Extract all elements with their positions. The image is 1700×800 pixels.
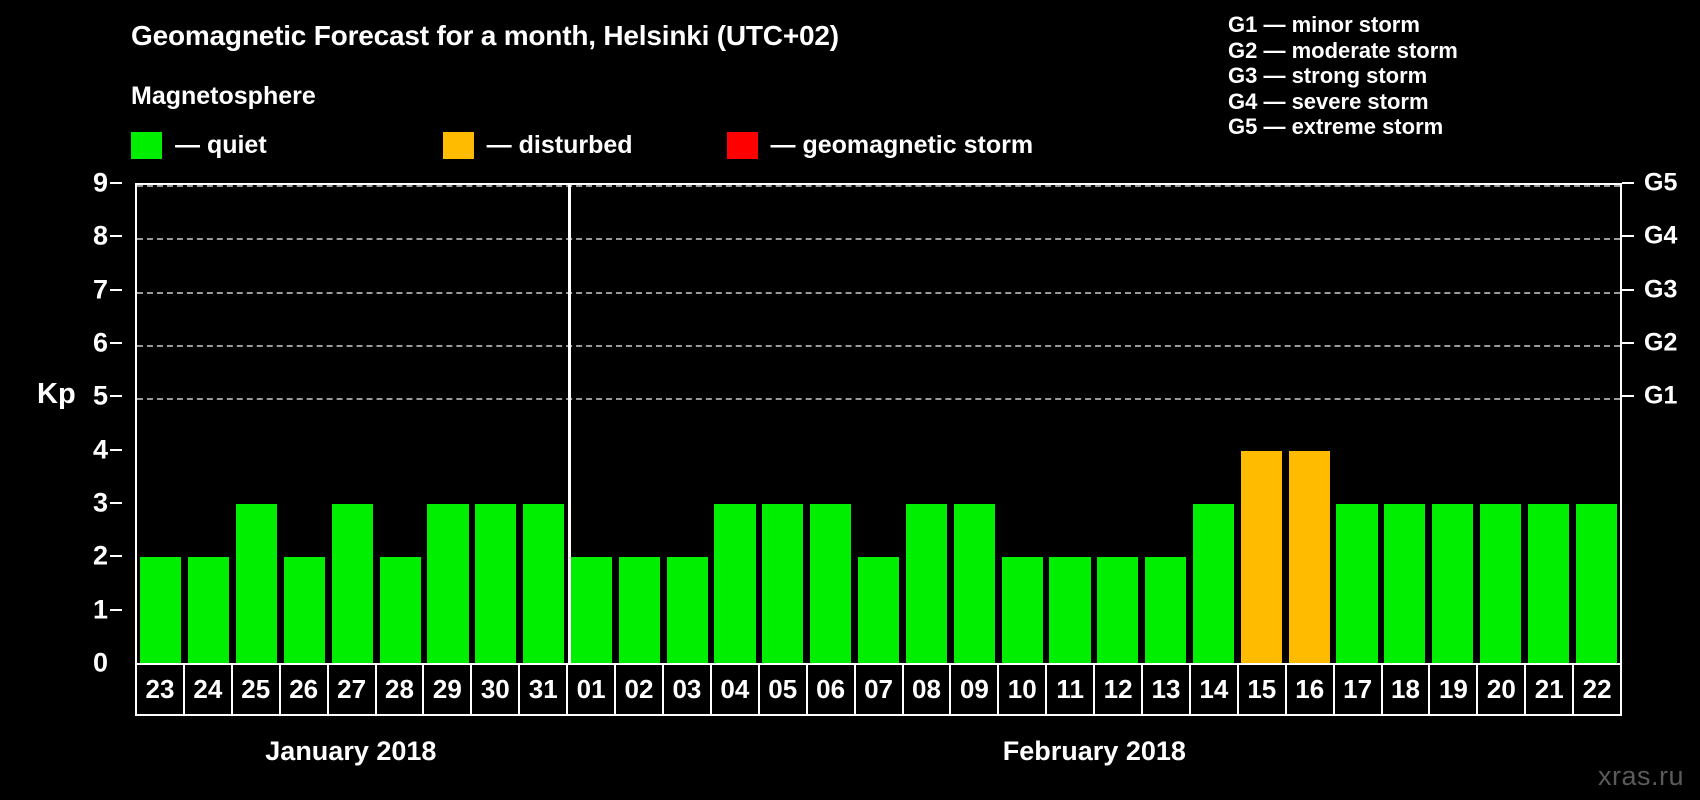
- g-tick-mark-g5: [1622, 182, 1634, 184]
- bar-slot[interactable]: [328, 185, 376, 663]
- bar-day-13[interactable]: [1145, 557, 1186, 663]
- legend-swatch-disturbed: [443, 132, 474, 159]
- y-tick-label-3: 3: [93, 488, 108, 519]
- y-tick-mark-3: [110, 502, 122, 504]
- month-caption-february: February 2018: [1003, 736, 1186, 767]
- bar-day-05[interactable]: [762, 504, 803, 663]
- day-label-14[interactable]: 14: [1191, 665, 1239, 714]
- bar-day-21[interactable]: [1528, 504, 1569, 663]
- day-label-20[interactable]: 20: [1478, 665, 1526, 714]
- day-label-28[interactable]: 28: [377, 665, 425, 714]
- magnetosphere-legend: — quiet— disturbed— geomagnetic storm: [131, 128, 1033, 162]
- bar-day-30[interactable]: [475, 504, 516, 663]
- g-tick-mark-g1: [1622, 395, 1634, 397]
- g-tick-label-g3: G3: [1644, 275, 1677, 304]
- day-label-29[interactable]: 29: [424, 665, 472, 714]
- bar-day-22[interactable]: [1576, 504, 1617, 663]
- day-label-11[interactable]: 11: [1047, 665, 1095, 714]
- bars-layer: [137, 185, 1620, 663]
- y-tick-mark-8: [110, 235, 122, 237]
- legend-label-geomagnetic-storm: — geomagnetic storm: [771, 131, 1034, 160]
- bar-slot[interactable]: [1477, 185, 1525, 663]
- y-tick-mark-1: [110, 609, 122, 611]
- bar-slot[interactable]: [233, 185, 281, 663]
- bar-day-11[interactable]: [1049, 557, 1090, 663]
- g-tick-mark-g4: [1622, 235, 1634, 237]
- bar-slot[interactable]: [281, 185, 329, 663]
- legend-label-disturbed: — disturbed: [487, 131, 633, 160]
- geomagnetic-forecast-chart: Geomagnetic Forecast for a month, Helsin…: [0, 0, 1700, 800]
- bar-slot[interactable]: [759, 185, 807, 663]
- bar-slot[interactable]: [1142, 185, 1190, 663]
- storm-scale-row-g3: G3 — strong storm: [1228, 63, 1458, 89]
- bar-slot[interactable]: [376, 185, 424, 663]
- watermark: xras.ru: [1598, 761, 1684, 792]
- bar-day-09[interactable]: [954, 504, 995, 663]
- legend-swatch-geomagnetic-storm: [727, 132, 758, 159]
- bar-day-04[interactable]: [714, 504, 755, 663]
- day-label-10[interactable]: 10: [999, 665, 1047, 714]
- day-label-30[interactable]: 30: [472, 665, 520, 714]
- bar-slot[interactable]: [663, 185, 711, 663]
- bar-slot[interactable]: [520, 185, 568, 663]
- bar-slot[interactable]: [568, 185, 616, 663]
- magnetosphere-section-label: Magnetosphere: [131, 82, 316, 111]
- day-label-13[interactable]: 13: [1143, 665, 1191, 714]
- y-tick-label-5: 5: [93, 381, 108, 412]
- legend-entry-disturbed: — disturbed: [443, 128, 633, 162]
- bar-day-28[interactable]: [380, 557, 421, 663]
- y-tick-label-2: 2: [93, 541, 108, 572]
- bar-slot[interactable]: [1524, 185, 1572, 663]
- g-tick-mark-g2: [1622, 342, 1634, 344]
- storm-scale-row-g1: G1 — minor storm: [1228, 12, 1458, 38]
- storm-scale-row-g4: G4 — severe storm: [1228, 89, 1458, 115]
- bar-day-18[interactable]: [1384, 504, 1425, 663]
- bar-slot[interactable]: [472, 185, 520, 663]
- legend-label-quiet: — quiet: [175, 131, 267, 160]
- g-tick-label-g5: G5: [1644, 169, 1677, 198]
- y-tick-label-1: 1: [93, 594, 108, 625]
- bar-day-29[interactable]: [427, 504, 468, 663]
- day-label-22[interactable]: 22: [1574, 665, 1620, 714]
- bar-day-19[interactable]: [1432, 504, 1473, 663]
- bar-day-10[interactable]: [1002, 557, 1043, 663]
- g-tick-label-g2: G2: [1644, 329, 1677, 358]
- day-label-12[interactable]: 12: [1095, 665, 1143, 714]
- bar-slot[interactable]: [185, 185, 233, 663]
- bar-slot[interactable]: [1381, 185, 1429, 663]
- bar-slot[interactable]: [1190, 185, 1238, 663]
- bar-slot[interactable]: [711, 185, 759, 663]
- g-tick-mark-g3: [1622, 289, 1634, 291]
- bar-slot[interactable]: [1572, 185, 1620, 663]
- day-label-02[interactable]: 02: [616, 665, 664, 714]
- bar-day-12[interactable]: [1097, 557, 1138, 663]
- y-tick-label-8: 8: [93, 221, 108, 252]
- bar-day-01[interactable]: [571, 557, 612, 663]
- day-label-09[interactable]: 09: [951, 665, 999, 714]
- bar-day-08[interactable]: [906, 504, 947, 663]
- bar-day-20[interactable]: [1480, 504, 1521, 663]
- bar-day-17[interactable]: [1336, 504, 1377, 663]
- bar-slot[interactable]: [1237, 185, 1285, 663]
- month-divider-line: [568, 185, 571, 663]
- day-label-27[interactable]: 27: [329, 665, 377, 714]
- day-label-04[interactable]: 04: [712, 665, 760, 714]
- y-tick-label-9: 9: [93, 168, 108, 199]
- bar-day-25[interactable]: [236, 504, 277, 663]
- bar-day-26[interactable]: [284, 557, 325, 663]
- day-label-15[interactable]: 15: [1239, 665, 1287, 714]
- day-label-24[interactable]: 24: [185, 665, 233, 714]
- bar-day-02[interactable]: [619, 557, 660, 663]
- bar-slot[interactable]: [855, 185, 903, 663]
- bar-slot[interactable]: [950, 185, 998, 663]
- legend-entry-quiet: — quiet: [131, 128, 267, 162]
- bar-slot[interactable]: [1046, 185, 1094, 663]
- plot-inner: [137, 185, 1620, 663]
- bar-day-23[interactable]: [140, 557, 181, 663]
- bar-slot[interactable]: [903, 185, 951, 663]
- bar-day-16[interactable]: [1289, 451, 1330, 663]
- storm-scale-row-g2: G2 — moderate storm: [1228, 38, 1458, 64]
- bar-slot[interactable]: [1285, 185, 1333, 663]
- y-tick-mark-4: [110, 449, 122, 451]
- y-tick-mark-6: [110, 342, 122, 344]
- day-label-05[interactable]: 05: [760, 665, 808, 714]
- day-label-18[interactable]: 18: [1383, 665, 1431, 714]
- y-tick-mark-2: [110, 555, 122, 557]
- page-title: Geomagnetic Forecast for a month, Helsin…: [131, 20, 839, 52]
- y-tick-label-4: 4: [93, 434, 108, 465]
- day-label-07[interactable]: 07: [856, 665, 904, 714]
- month-caption-january: January 2018: [265, 736, 436, 767]
- bar-day-24[interactable]: [188, 557, 229, 663]
- bar-slot[interactable]: [1094, 185, 1142, 663]
- day-label-16[interactable]: 16: [1287, 665, 1335, 714]
- bar-day-31[interactable]: [523, 504, 564, 663]
- day-label-26[interactable]: 26: [281, 665, 329, 714]
- bar-day-14[interactable]: [1193, 504, 1234, 663]
- y-axis: 0123456789: [60, 183, 122, 663]
- plot-area: [135, 183, 1622, 663]
- day-label-31[interactable]: 31: [520, 665, 568, 714]
- legend-entry-geomagnetic-storm: — geomagnetic storm: [727, 128, 1034, 162]
- y-tick-label-6: 6: [93, 328, 108, 359]
- bar-slot[interactable]: [807, 185, 855, 663]
- y-tick-label-7: 7: [93, 274, 108, 305]
- y-tick-mark-5: [110, 395, 122, 397]
- bar-day-06[interactable]: [810, 504, 851, 663]
- bar-day-07[interactable]: [858, 557, 899, 663]
- g-tick-label-g1: G1: [1644, 382, 1677, 411]
- y-tick-mark-7: [110, 289, 122, 291]
- day-label-01[interactable]: 01: [568, 665, 616, 714]
- legend-swatch-quiet: [131, 132, 162, 159]
- day-label-25[interactable]: 25: [233, 665, 281, 714]
- bar-slot[interactable]: [1429, 185, 1477, 663]
- day-label-08[interactable]: 08: [904, 665, 952, 714]
- day-label-21[interactable]: 21: [1526, 665, 1574, 714]
- day-label-19[interactable]: 19: [1430, 665, 1478, 714]
- day-label-06[interactable]: 06: [808, 665, 856, 714]
- day-label-23[interactable]: 23: [137, 665, 185, 714]
- bar-slot[interactable]: [615, 185, 663, 663]
- storm-scale-row-g5: G5 — extreme storm: [1228, 114, 1458, 140]
- day-label-strip: 2324252627282930310102030405060708091011…: [135, 663, 1622, 716]
- day-label-03[interactable]: 03: [664, 665, 712, 714]
- bar-day-15[interactable]: [1241, 451, 1282, 663]
- y-tick-label-0: 0: [93, 648, 108, 679]
- bar-slot[interactable]: [424, 185, 472, 663]
- day-label-17[interactable]: 17: [1335, 665, 1383, 714]
- g-tick-label-g4: G4: [1644, 222, 1677, 251]
- bar-slot[interactable]: [137, 185, 185, 663]
- bar-day-03[interactable]: [667, 557, 708, 663]
- bar-day-27[interactable]: [332, 504, 373, 663]
- bar-slot[interactable]: [998, 185, 1046, 663]
- y-tick-mark-9: [110, 182, 122, 184]
- g-scale-axis: G1G2G3G4G5: [1622, 183, 1692, 663]
- storm-scale-legend: G1 — minor stormG2 — moderate stormG3 — …: [1228, 12, 1458, 140]
- bar-slot[interactable]: [1333, 185, 1381, 663]
